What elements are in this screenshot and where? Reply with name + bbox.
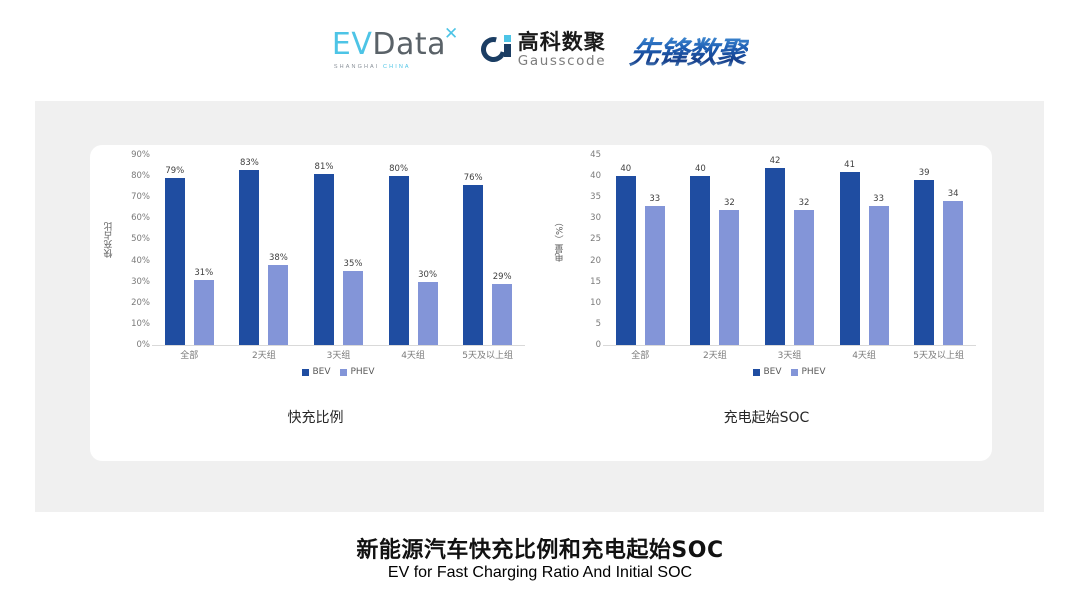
legend-label: PHEV xyxy=(350,367,374,377)
footer-subtitle: EV for Fast Charging Ratio And Initial S… xyxy=(0,564,1080,582)
bar-value-label: 42 xyxy=(770,156,781,166)
y-axis-title-left: 快充占比 xyxy=(102,145,116,335)
evdata-letter-v: V xyxy=(351,30,372,60)
bar-rect xyxy=(914,180,934,345)
bar-bev[interactable]: 39 xyxy=(914,155,934,345)
y-tick: 60% xyxy=(131,213,150,223)
bar-bev[interactable]: 41 xyxy=(840,155,860,345)
bar-value-label: 76% xyxy=(464,173,483,183)
bar-phev[interactable]: 38% xyxy=(268,155,288,345)
bar-value-label: 41 xyxy=(844,160,855,170)
bar-bev[interactable]: 40 xyxy=(690,155,710,345)
x-axis-label: 5天及以上组 xyxy=(901,348,976,361)
bar-phev[interactable]: 33 xyxy=(869,155,889,345)
bar-value-label: 32 xyxy=(724,198,735,208)
bar-group: 4033 xyxy=(603,155,678,345)
bar-rect xyxy=(343,271,363,345)
y-tick: 15 xyxy=(590,277,601,287)
bar-value-label: 31% xyxy=(194,268,213,278)
gausscode-square-cyan xyxy=(504,35,511,42)
bar-group: 4232 xyxy=(752,155,827,345)
bar-rect xyxy=(418,282,438,345)
legend-label: PHEV xyxy=(801,367,825,377)
bar-bev[interactable]: 42 xyxy=(765,155,785,345)
chart-initial-soc: 电量（%） 051015202530354045 403340324232413… xyxy=(541,145,992,461)
legend-item-phev[interactable]: PHEV xyxy=(791,367,825,377)
legend-swatch xyxy=(302,369,309,376)
chart-fast-charging-ratio: 快充占比 0%10%20%30%40%50%60%70%80%90% 79%31… xyxy=(90,145,541,461)
bar-group: 3934 xyxy=(901,155,976,345)
chart-card-inner: 快充占比 0%10%20%30%40%50%60%70%80%90% 79%31… xyxy=(90,145,992,461)
bar-value-label: 83% xyxy=(240,158,259,168)
bar-rect xyxy=(389,176,409,345)
xianfeng-logo: 先锋数聚 xyxy=(626,28,751,72)
y-tick: 10 xyxy=(590,298,601,308)
bar-group: 76%29% xyxy=(450,155,525,345)
evdata-letter-e: E xyxy=(332,30,351,60)
bar-value-label: 33 xyxy=(649,194,660,204)
bar-phev[interactable]: 31% xyxy=(194,155,214,345)
evdata-tagline-city: SHANGHAI xyxy=(334,64,383,70)
bar-rect xyxy=(645,206,665,345)
bar-rect xyxy=(165,178,185,345)
bar-bev[interactable]: 80% xyxy=(389,155,409,345)
y-tick: 10% xyxy=(131,319,150,329)
gausscode-mark-icon xyxy=(481,35,511,65)
plot-wrap-left: 快充占比 0%10%20%30%40%50%60%70%80%90% 79%31… xyxy=(90,145,541,377)
logo-bar: EVData✕ SHANGHAI CHINA 高科数聚 Gausscode 先锋… xyxy=(0,22,1080,78)
y-axis-ticks-right: 051015202530354045 xyxy=(567,155,601,345)
bar-value-label: 39 xyxy=(919,168,930,178)
bar-bev[interactable]: 79% xyxy=(165,155,185,345)
bar-phev[interactable]: 30% xyxy=(418,155,438,345)
plot-wrap-right: 电量（%） 051015202530354045 403340324232413… xyxy=(541,145,992,377)
bar-group: 4032 xyxy=(678,155,753,345)
evdata-word-data: Data xyxy=(372,30,446,60)
bar-value-label: 33 xyxy=(873,194,884,204)
bar-rect xyxy=(719,210,739,345)
y-tick: 70% xyxy=(131,192,150,202)
chart-title-left: 快充比例 xyxy=(90,407,541,427)
legend-item-bev[interactable]: BEV xyxy=(753,367,781,377)
bar-value-label: 30% xyxy=(418,270,437,280)
footer-title: 新能源汽车快充比例和充电起始SOC xyxy=(0,532,1080,564)
evdata-tagline-country: CHINA xyxy=(383,64,411,70)
bar-value-label: 29% xyxy=(493,272,512,282)
x-axis-label: 3天组 xyxy=(752,348,827,361)
bar-value-label: 35% xyxy=(344,259,363,269)
x-axis-label: 全部 xyxy=(152,348,227,361)
x-axis-label: 2天组 xyxy=(678,348,753,361)
bar-phev[interactable]: 33 xyxy=(645,155,665,345)
y-tick: 20 xyxy=(590,256,601,266)
bar-group: 79%31% xyxy=(152,155,227,345)
bar-value-label: 40 xyxy=(695,164,706,174)
y-tick: 30 xyxy=(590,213,601,223)
bar-value-label: 80% xyxy=(389,164,408,174)
bar-bev[interactable]: 83% xyxy=(239,155,259,345)
x-axis-labels-right: 全部2天组3天组4天组5天及以上组 xyxy=(603,348,976,361)
legend-swatch xyxy=(791,369,798,376)
bar-group: 81%35% xyxy=(301,155,376,345)
bar-bev[interactable]: 76% xyxy=(463,155,483,345)
bar-group: 4133 xyxy=(827,155,902,345)
x-axis-label: 2天组 xyxy=(227,348,302,361)
y-tick: 0% xyxy=(137,340,151,350)
plot-area-left: 79%31%83%38%81%35%80%30%76%29% xyxy=(152,155,525,346)
evdata-x-icon: ✕ xyxy=(444,26,459,43)
y-tick: 0 xyxy=(596,340,601,350)
x-axis-label: 4天组 xyxy=(827,348,902,361)
y-axis-ticks-left: 0%10%20%30%40%50%60%70%80%90% xyxy=(116,155,150,345)
evdata-logo: EVData✕ SHANGHAI CHINA xyxy=(332,30,459,70)
bar-rect xyxy=(616,176,636,345)
bar-rect xyxy=(690,176,710,345)
gausscode-square-navy xyxy=(504,44,511,57)
bar-value-label: 40 xyxy=(620,164,631,174)
x-axis-label: 4天组 xyxy=(376,348,451,361)
x-axis-label: 全部 xyxy=(603,348,678,361)
gausscode-logo: 高科数聚 Gausscode xyxy=(481,32,606,69)
y-tick: 80% xyxy=(131,171,150,181)
y-tick: 35 xyxy=(590,192,601,202)
legend-swatch xyxy=(340,369,347,376)
evdata-wordmark: EVData✕ xyxy=(332,30,459,60)
bar-phev[interactable]: 29% xyxy=(492,155,512,345)
bar-bev[interactable]: 81% xyxy=(314,155,334,345)
y-tick: 5 xyxy=(596,319,601,329)
legend-swatch xyxy=(753,369,760,376)
bar-rect xyxy=(463,185,483,345)
x-axis-label: 5天及以上组 xyxy=(450,348,525,361)
y-tick: 40 xyxy=(590,171,601,181)
gausscode-name-cn: 高科数聚 xyxy=(518,32,606,53)
legend-right: BEVPHEV xyxy=(603,367,976,377)
x-axis-label: 3天组 xyxy=(301,348,376,361)
bar-rect xyxy=(314,174,334,345)
legend-label: BEV xyxy=(312,367,330,377)
footer: 新能源汽车快充比例和充电起始SOC EV for Fast Charging R… xyxy=(0,532,1080,582)
y-tick: 90% xyxy=(131,150,150,160)
bar-rect xyxy=(943,201,963,345)
bar-value-label: 32 xyxy=(799,198,810,208)
bar-value-label: 34 xyxy=(948,189,959,199)
bar-rect xyxy=(268,265,288,345)
y-tick: 50% xyxy=(131,234,150,244)
x-axis-labels-left: 全部2天组3天组4天组5天及以上组 xyxy=(152,348,525,361)
bar-phev[interactable]: 34 xyxy=(943,155,963,345)
legend-left: BEVPHEV xyxy=(152,367,525,377)
bar-groups-left: 79%31%83%38%81%35%80%30%76%29% xyxy=(152,155,525,345)
bar-phev[interactable]: 35% xyxy=(343,155,363,345)
legend-label: BEV xyxy=(763,367,781,377)
gausscode-name-en: Gausscode xyxy=(518,55,606,69)
legend-item-phev[interactable]: PHEV xyxy=(340,367,374,377)
bar-rect xyxy=(492,284,512,345)
bar-phev[interactable]: 32 xyxy=(794,155,814,345)
evdata-tagline: SHANGHAI CHINA xyxy=(334,64,411,70)
bar-rect xyxy=(840,172,860,345)
bar-group: 83%38% xyxy=(227,155,302,345)
plot-area-right: 40334032423241333934 xyxy=(603,155,976,346)
y-tick: 40% xyxy=(131,256,150,266)
chart-title-right: 充电起始SOC xyxy=(541,407,992,427)
bar-groups-right: 40334032423241333934 xyxy=(603,155,976,345)
bar-rect xyxy=(869,206,889,345)
bar-value-label: 79% xyxy=(165,166,184,176)
y-tick: 45 xyxy=(590,150,601,160)
bar-rect xyxy=(239,170,259,345)
bar-value-label: 81% xyxy=(315,162,334,172)
bar-rect xyxy=(794,210,814,345)
y-tick: 30% xyxy=(131,277,150,287)
bar-phev[interactable]: 32 xyxy=(719,155,739,345)
chart-card: 快充占比 0%10%20%30%40%50%60%70%80%90% 79%31… xyxy=(90,145,992,461)
bar-value-label: 38% xyxy=(269,253,288,263)
bar-rect xyxy=(765,168,785,345)
y-tick: 20% xyxy=(131,298,150,308)
y-tick: 25 xyxy=(590,234,601,244)
gausscode-wordmark: 高科数聚 Gausscode xyxy=(518,32,606,69)
bar-group: 80%30% xyxy=(376,155,451,345)
bar-rect xyxy=(194,280,214,345)
y-axis-title-right: 电量（%） xyxy=(553,145,567,335)
legend-item-bev[interactable]: BEV xyxy=(302,367,330,377)
bar-bev[interactable]: 40 xyxy=(616,155,636,345)
